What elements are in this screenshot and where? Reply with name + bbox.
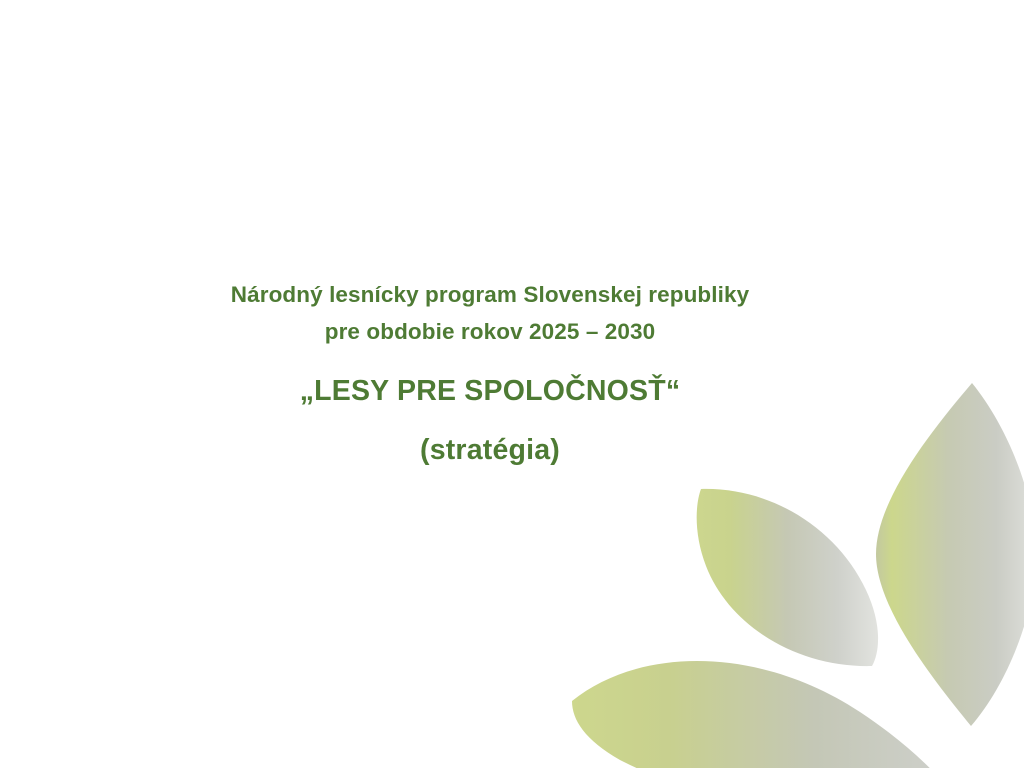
- title-line-motto: „LESY PRE SPOLOČNOSŤ“: [0, 372, 980, 410]
- presentation-slide: Národný lesnícky program Slovenskej repu…: [0, 0, 1024, 768]
- title-line-period: pre obdobie rokov 2025 – 2030: [0, 313, 980, 350]
- title-line-program-name: Národný lesnícky program Slovenskej repu…: [0, 276, 980, 313]
- leaf-bottom: [572, 661, 1014, 768]
- title-line-document-type: (stratégia): [0, 431, 980, 469]
- title-text-block: Národný lesnícky program Slovenskej repu…: [0, 276, 980, 469]
- leaf-middle: [697, 489, 878, 666]
